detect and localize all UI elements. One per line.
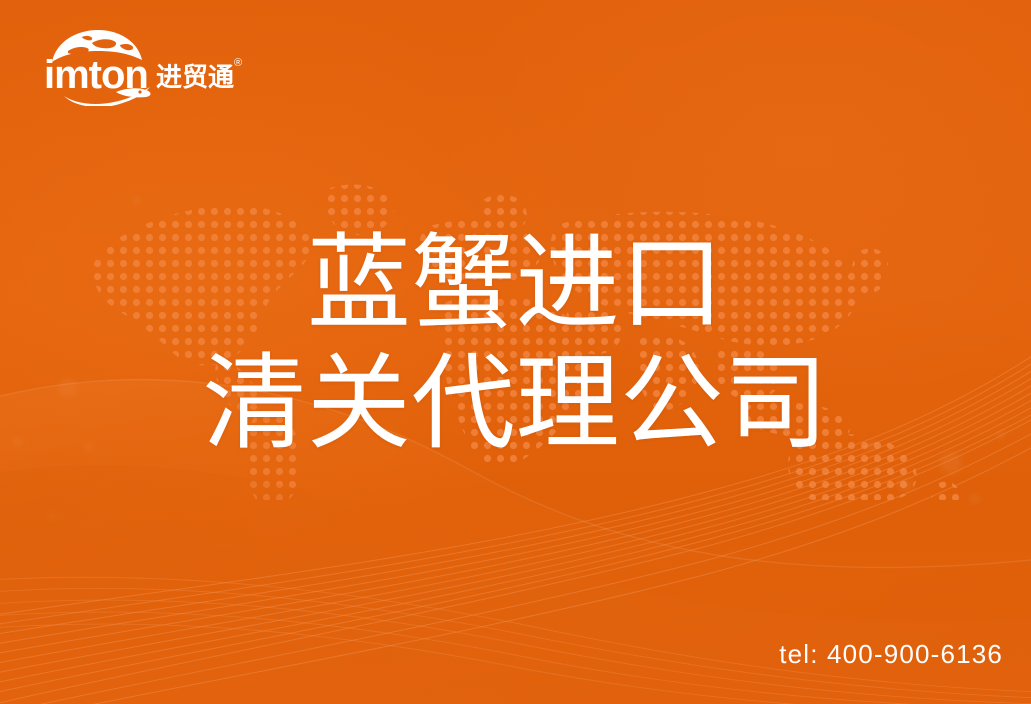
poster-canvas: imton 进贸通 ® imton 进贸通 ® 蓝蟹进口 清关代理公司 tel:… bbox=[0, 0, 1031, 704]
svg-text:®: ® bbox=[234, 57, 242, 69]
headline-line-1: 蓝蟹进口 bbox=[0, 232, 1031, 336]
svg-text:imton: imton bbox=[44, 53, 148, 97]
contact-phone[interactable]: tel: 400-900-6136 bbox=[779, 639, 1003, 670]
headline-block: 蓝蟹进口 清关代理公司 bbox=[0, 232, 1031, 456]
brand-logo[interactable]: imton 进贸通 ® imton 进贸通 ® bbox=[38, 26, 253, 106]
headline-line-2: 清关代理公司 bbox=[0, 352, 1031, 456]
svg-text:进贸通: 进贸通 bbox=[156, 62, 234, 92]
